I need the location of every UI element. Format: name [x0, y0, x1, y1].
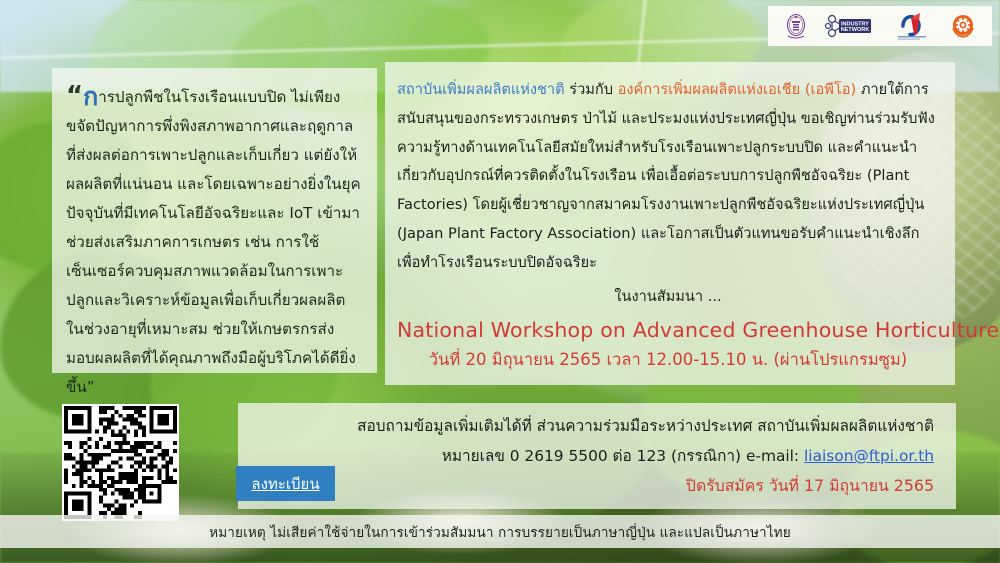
register-button[interactable]: ลงทะเบียน [236, 466, 335, 501]
registration-deadline: ปิดรับสมัคร วันที่ 17 มิถุนายน 2565 [238, 471, 934, 501]
svg-text:APO: APO [958, 33, 969, 39]
open-quote-mark: “ [66, 81, 83, 111]
svg-text:NETWORK: NETWORK [841, 27, 869, 33]
contact-panel: สอบถามข้อมูลเพิ่มเติมได้ที่ ส่วนความร่วม… [238, 403, 956, 509]
poster-root: INDUSTRY NETWORK [0, 0, 1000, 563]
seminar-intro-line: ในงานสัมมนา ... [397, 284, 939, 310]
quote-body: ารปลูกพืชในโรงเรือนแบบปิด ไม่เพียงขจัดปั… [66, 88, 361, 396]
organizer-apo-name: องค์การเพิ่มผลผลิตแห่งเอเชีย (เอพีโอ) [618, 81, 857, 98]
qr-canvas [64, 406, 177, 519]
contact-line-2: หมายเลข 0 2619 5500 ต่อ 123 (กรรณิกา) e-… [238, 441, 934, 471]
footer-note: หมายเหตุ ไม่เสียค่าใช้จ่ายในการเข้าร่วมส… [209, 521, 791, 543]
register-button-label: ลงทะเบียน [251, 472, 319, 496]
conjunction: ร่วมกับ [565, 81, 618, 98]
organizer-ftpi-name: สถาบันเพิ่มผลผลิตแห่งชาติ [397, 81, 565, 98]
contact-phone-text: หมายเลข 0 2619 5500 ต่อ 123 (กรรณิกา) e-… [442, 447, 804, 465]
ministry-emblem-logo [781, 10, 811, 42]
registration-qr-code[interactable] [62, 404, 179, 521]
footer-band: หมายเหตุ ไม่เสียค่าใช้จ่ายในการเข้าร่วมส… [0, 515, 1000, 548]
ftpi-logo [888, 10, 934, 42]
invitation-paragraph: ภายใต้การสนับสนุนของกระทรวงเกษตร ป่าไม้ … [397, 81, 935, 271]
invitation-body: สถาบันเพิ่มผลผลิตแห่งชาติ ร่วมกับ องค์กา… [397, 76, 939, 278]
contact-line-1: สอบถามข้อมูลเพิ่มเติมได้ที่ ส่วนความร่วม… [238, 411, 934, 441]
event-title: National Workshop on Advanced Greenhouse… [397, 316, 939, 344]
quote-text: “การปลูกพืชในโรงเรือนแบบปิด ไม่เพียงขจัด… [66, 82, 361, 402]
event-date-time: วันที่ 20 มิถุนายน 2565 เวลา 12.00-15.10… [397, 348, 939, 372]
quote-dropcap: ก [83, 82, 98, 111]
invitation-panel: สถาบันเพิ่มผลผลิตแห่งชาติ ร่วมกับ องค์กา… [385, 62, 955, 385]
apo-logo: APO [947, 10, 979, 42]
industry-network-logo: INDUSTRY NETWORK [824, 10, 874, 42]
quote-panel: “การปลูกพืชในโรงเรือนแบบปิด ไม่เพียงขจัด… [52, 68, 377, 373]
logo-bar: INDUSTRY NETWORK [768, 6, 992, 46]
contact-email-link[interactable]: liaison@ftpi.or.th [804, 447, 934, 465]
